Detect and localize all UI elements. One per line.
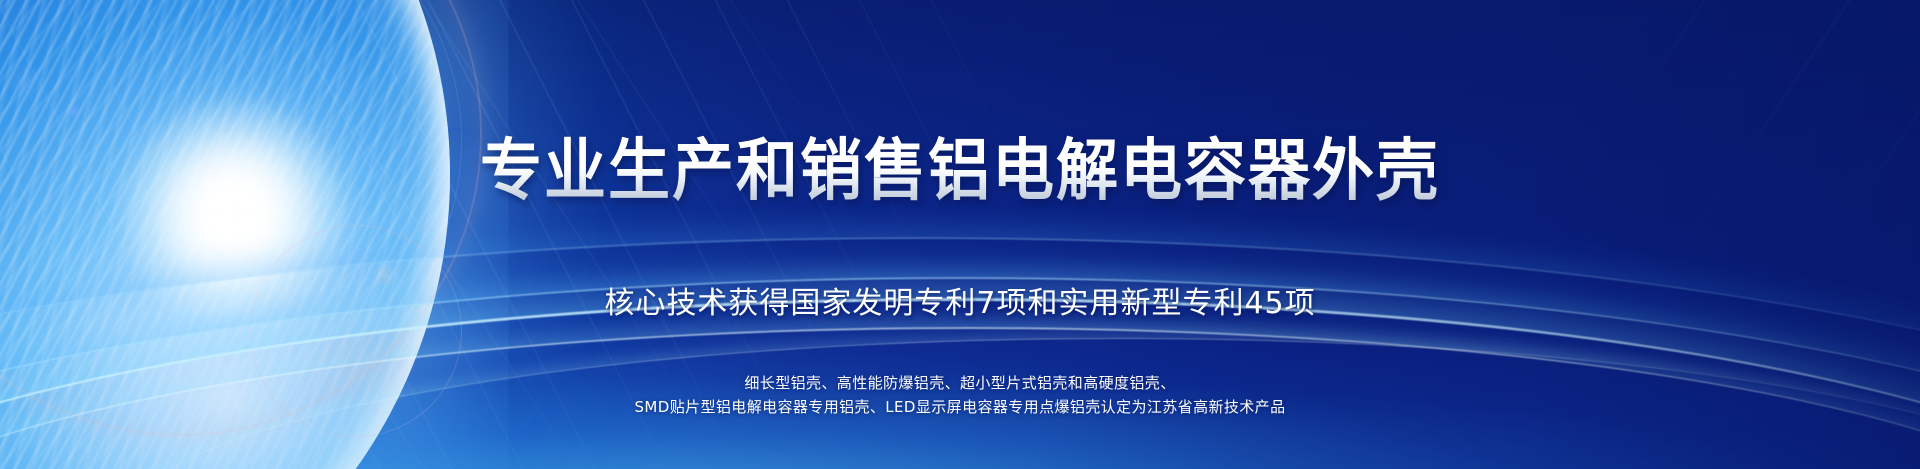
- banner-description-line-2: SMD贴片型铝电解电容器专用铝壳、LED显示屏电容器专用点爆铝壳认定为江苏省高新…: [634, 395, 1285, 419]
- banner-title: 专业生产和销售铝电解电容器外壳: [480, 135, 1440, 205]
- banner-description-line-1: 细长型铝壳、高性能防爆铝壳、超小型片式铝壳和高硬度铝壳、: [634, 371, 1285, 395]
- banner-description: 细长型铝壳、高性能防爆铝壳、超小型片式铝壳和高硬度铝壳、 SMD贴片型铝电解电容…: [634, 371, 1285, 420]
- banner-content: 专业生产和销售铝电解电容器外壳 核心技术获得国家发明专利7项和实用新型专利45项…: [0, 0, 1920, 469]
- hero-banner: 专业生产和销售铝电解电容器外壳 核心技术获得国家发明专利7项和实用新型专利45项…: [0, 0, 1920, 469]
- banner-subtitle: 核心技术获得国家发明专利7项和实用新型专利45项: [604, 278, 1315, 322]
